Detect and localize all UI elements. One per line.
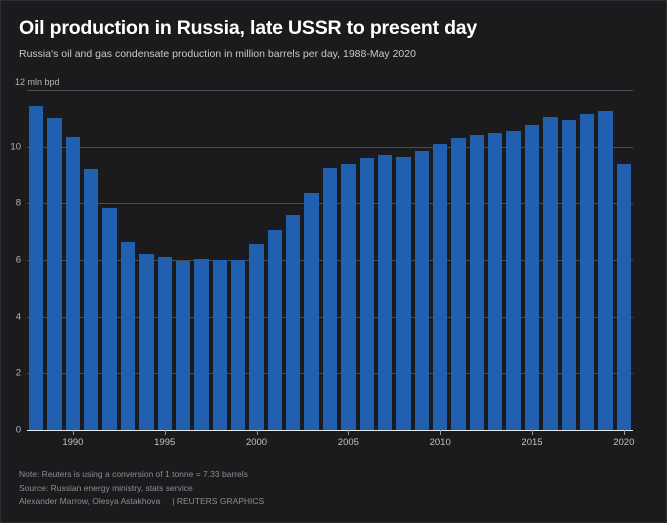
bar-1992 — [102, 208, 116, 430]
y-tick-label-4: 4 — [16, 311, 21, 322]
x-tick-label-1995: 1995 — [154, 437, 175, 448]
y-axis-caption: 12 mln bpd — [15, 77, 60, 87]
x-tick-mark-2010 — [440, 430, 441, 435]
bar-2016 — [543, 117, 557, 430]
bar-2009 — [415, 151, 429, 430]
x-axis: 1990199520002005201020152020 — [27, 430, 633, 456]
bar-2000 — [249, 244, 263, 430]
footer-credit: Alexander Marrow, Olesya Astakhova| REUT… — [19, 495, 264, 508]
x-tick-label-2005: 2005 — [338, 437, 359, 448]
bar-1989 — [47, 118, 61, 430]
bar-2012 — [470, 135, 484, 430]
footer-brand: | REUTERS GRAPHICS — [172, 496, 264, 506]
bar-1997 — [194, 259, 208, 430]
bar-1998 — [213, 260, 227, 430]
x-tick-mark-2020 — [624, 430, 625, 435]
x-tick-mark-2000 — [257, 430, 258, 435]
bar-2019 — [598, 111, 612, 430]
x-tick-label-2015: 2015 — [521, 437, 542, 448]
y-tick-label-10: 10 — [10, 141, 21, 152]
bar-1996 — [176, 261, 190, 430]
x-tick-mark-2005 — [348, 430, 349, 435]
y-tick-label-0: 0 — [16, 425, 21, 436]
x-tick-label-2020: 2020 — [613, 437, 634, 448]
x-tick-label-2010: 2010 — [430, 437, 451, 448]
chart-area: 12 mln bpd 0246810 199019952000200520102… — [1, 1, 667, 523]
footer-source: Source: Russian energy ministry, stats s… — [19, 482, 264, 495]
reuters-chart-card: Oil production in Russia, late USSR to p… — [0, 0, 667, 523]
y-tick-label-8: 8 — [16, 198, 21, 209]
bar-2014 — [506, 131, 520, 430]
x-tick-label-1990: 1990 — [62, 437, 83, 448]
bar-2003 — [304, 193, 318, 430]
bar-1995 — [158, 257, 172, 430]
bar-2007 — [378, 155, 392, 430]
bar-1988 — [29, 106, 43, 430]
x-tick-label-2000: 2000 — [246, 437, 267, 448]
bar-1994 — [139, 254, 153, 430]
x-tick-mark-2015 — [532, 430, 533, 435]
plot-region: 0246810 — [27, 90, 633, 430]
bar-2015 — [525, 125, 539, 430]
footer-note: Note: Reuters is using a conversion of 1… — [19, 468, 264, 481]
chart-footer: Note: Reuters is using a conversion of 1… — [19, 468, 264, 508]
bar-2006 — [360, 158, 374, 430]
bar-2002 — [286, 215, 300, 430]
bar-2008 — [396, 157, 410, 430]
bar-2020 — [617, 164, 631, 430]
bar-2018 — [580, 114, 594, 430]
bar-1999 — [231, 260, 245, 430]
bar-1990 — [66, 137, 80, 430]
x-tick-mark-1995 — [165, 430, 166, 435]
bar-series — [27, 90, 633, 430]
bar-2001 — [268, 230, 282, 430]
bar-2010 — [433, 144, 447, 430]
footer-authors: Alexander Marrow, Olesya Astakhova — [19, 496, 160, 506]
bar-2011 — [451, 138, 465, 430]
bar-2017 — [562, 120, 576, 430]
bar-2005 — [341, 164, 355, 430]
bar-2013 — [488, 133, 502, 431]
bar-1991 — [84, 169, 98, 430]
bar-2004 — [323, 168, 337, 430]
bar-1993 — [121, 242, 135, 430]
x-tick-mark-1990 — [73, 430, 74, 435]
y-tick-label-6: 6 — [16, 255, 21, 266]
y-tick-label-2: 2 — [16, 368, 21, 379]
